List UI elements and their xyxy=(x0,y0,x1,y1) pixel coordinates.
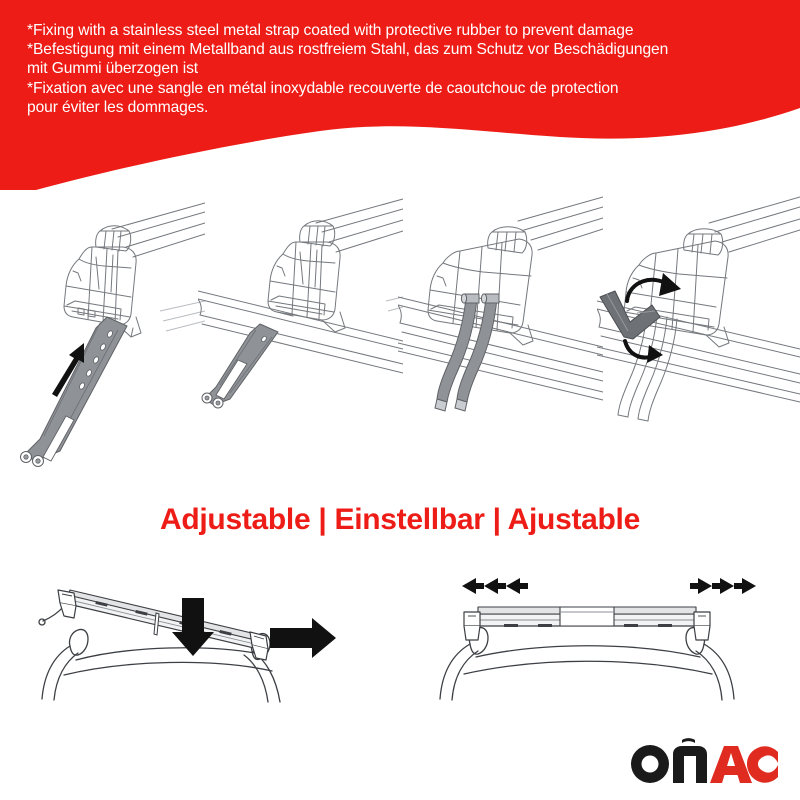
crossbar-assembly xyxy=(58,590,268,660)
logo-letter-c xyxy=(747,746,778,783)
adjust-panel-width-adjustment xyxy=(412,556,790,721)
adjustment-diagrams-strip xyxy=(0,556,800,721)
section-heading-adjustable: Adjustable | Einstellbar | Ajustable xyxy=(0,503,800,537)
logo-letter-m xyxy=(673,738,707,783)
adjust-1-illustration xyxy=(18,556,398,721)
metal-strap-step1 xyxy=(21,317,128,467)
step-panel-tighten xyxy=(597,193,800,468)
metal-strap-step3 xyxy=(435,294,499,411)
step-panel-wrap-strap xyxy=(398,193,603,468)
step-3-illustration xyxy=(398,193,603,468)
omac-logo-mark xyxy=(626,738,778,784)
omac-logo xyxy=(626,738,778,784)
adjust-panel-fitting-direction xyxy=(18,556,398,721)
logo-letter-o xyxy=(631,745,669,783)
allen-key-icon xyxy=(600,291,660,339)
crossbar-assembly xyxy=(464,607,710,640)
adjust-2-illustration xyxy=(412,556,790,721)
right-arrow-icon xyxy=(270,618,336,658)
header-banner: *Fixing with a stainless steel metal str… xyxy=(0,0,800,190)
header-description-text: *Fixing with a stainless steel metal str… xyxy=(27,21,787,117)
step-2-illustration xyxy=(198,193,403,468)
logo-letter-a xyxy=(710,746,752,783)
triple-left-arrow-icon xyxy=(462,578,528,594)
step-panel-insert-strap xyxy=(0,193,205,468)
infographic-page: *Fixing with a stainless steel metal str… xyxy=(0,0,800,800)
installation-steps-strip xyxy=(0,193,800,468)
metal-strap-step2 xyxy=(202,324,278,408)
triple-right-arrow-icon xyxy=(690,578,756,594)
step-4-illustration xyxy=(597,193,800,468)
step-1-illustration xyxy=(0,193,205,468)
step-panel-position-strap xyxy=(198,193,403,468)
